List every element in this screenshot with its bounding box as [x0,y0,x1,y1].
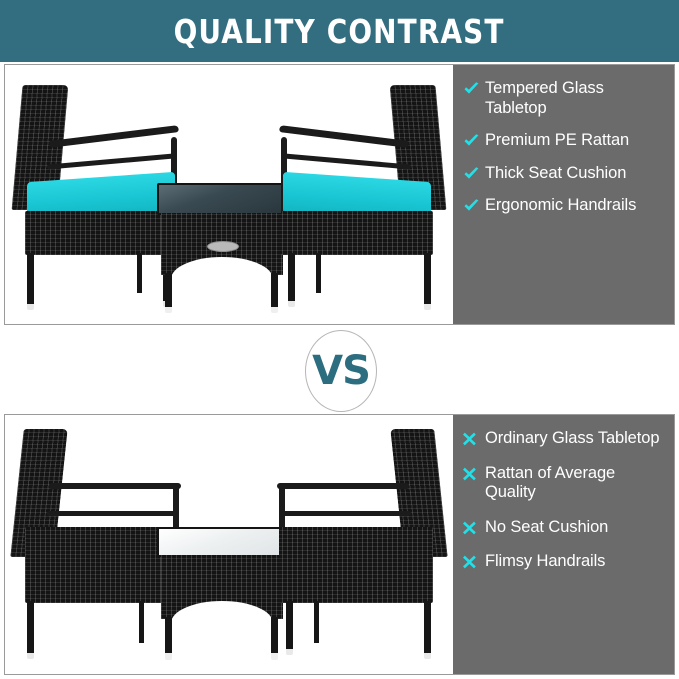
check-icon [463,164,485,181]
feature-label: No Seat Cushion [485,518,608,538]
chair-arm-brace [283,153,411,169]
ordinary-product-photo [5,415,453,674]
chair-leg-front [424,253,431,308]
table-brand-badge [207,241,239,252]
chair-armrest [49,125,179,148]
chair-foot-back [286,649,293,655]
check-icon [463,79,485,96]
chair-seat-frame [281,211,433,255]
chair-seat-frame [25,527,179,563]
chair-leg-rear [139,601,144,643]
chair-arm-brace [47,153,175,169]
feature-label: Ordinary Glass Tabletop [485,429,659,449]
chair-leg-back [286,601,293,653]
chair-leg-rear [314,601,319,643]
chair-seat-frame [25,211,177,255]
ordinary-panel: Ordinary Glass Tabletop Rattan of Averag… [4,414,675,675]
chair-arm-brace [281,511,411,516]
chair-foot-back [288,301,295,307]
vs-label: VS [312,351,370,391]
chair-seat-skirt [25,559,179,603]
header-banner: QUALITY CONTRAST [0,0,679,62]
vs-badge: VS [305,330,377,412]
chair-seat-skirt [279,559,433,603]
feature-item: Flimsy Handrails [463,552,666,572]
feature-label: Thick Seat Cushion [485,164,626,184]
chair-leg-front [424,601,431,657]
chair-foot-front [27,304,34,310]
feature-label: Tempered Glass Tabletop [485,79,666,118]
table-foot-left [165,653,172,660]
quality-panel: Tempered Glass Tabletop Premium PE Ratta… [4,64,675,325]
ordinary-scene [5,415,453,674]
feature-label: Rattan of Average Quality [485,464,666,503]
table-leg-left [165,273,172,311]
chair-leg-front [27,601,34,657]
page-title: QUALITY CONTRAST [174,12,505,51]
feature-item: No Seat Cushion [463,518,666,538]
chair-armrest [279,125,409,148]
feature-label: Flimsy Handrails [485,552,605,572]
chair-arm-brace [47,511,177,516]
check-icon [463,196,485,213]
quality-contrast-infographic: QUALITY CONTRAST [0,0,679,679]
feature-label: Ergonomic Handrails [485,196,636,216]
feature-item: Ordinary Glass Tabletop [463,429,666,449]
ordinary-chair-right [267,429,447,659]
quality-feature-list: Tempered Glass Tabletop Premium PE Ratta… [453,65,674,324]
chair-leg-front [27,253,34,308]
quality-product-photo [5,65,453,324]
chair-leg-back [288,253,295,305]
chair-leg-rear [316,253,321,293]
chair-foot-front [424,304,431,310]
x-icon [463,552,485,569]
chair-foot-front [424,653,431,659]
x-icon [463,464,485,481]
feature-item: Premium PE Rattan [463,131,666,151]
quality-chair-right [267,85,447,310]
feature-item: Thick Seat Cushion [463,164,666,184]
feature-item: Rattan of Average Quality [463,464,666,503]
chair-armrest [277,483,409,489]
x-icon [463,518,485,535]
check-icon [463,131,485,148]
chair-foot-front [27,653,34,659]
chair-armrest [49,483,181,489]
ordinary-feature-list: Ordinary Glass Tabletop Rattan of Averag… [453,415,674,674]
feature-item: Tempered Glass Tabletop [463,79,666,118]
chair-leg-rear [137,253,142,293]
table-leg-left [165,617,172,657]
feature-item: Ergonomic Handrails [463,196,666,216]
feature-label: Premium PE Rattan [485,131,629,151]
x-icon [463,429,485,446]
quality-scene [5,65,453,324]
table-foot-left [165,307,172,313]
chair-seat-frame [279,527,433,563]
